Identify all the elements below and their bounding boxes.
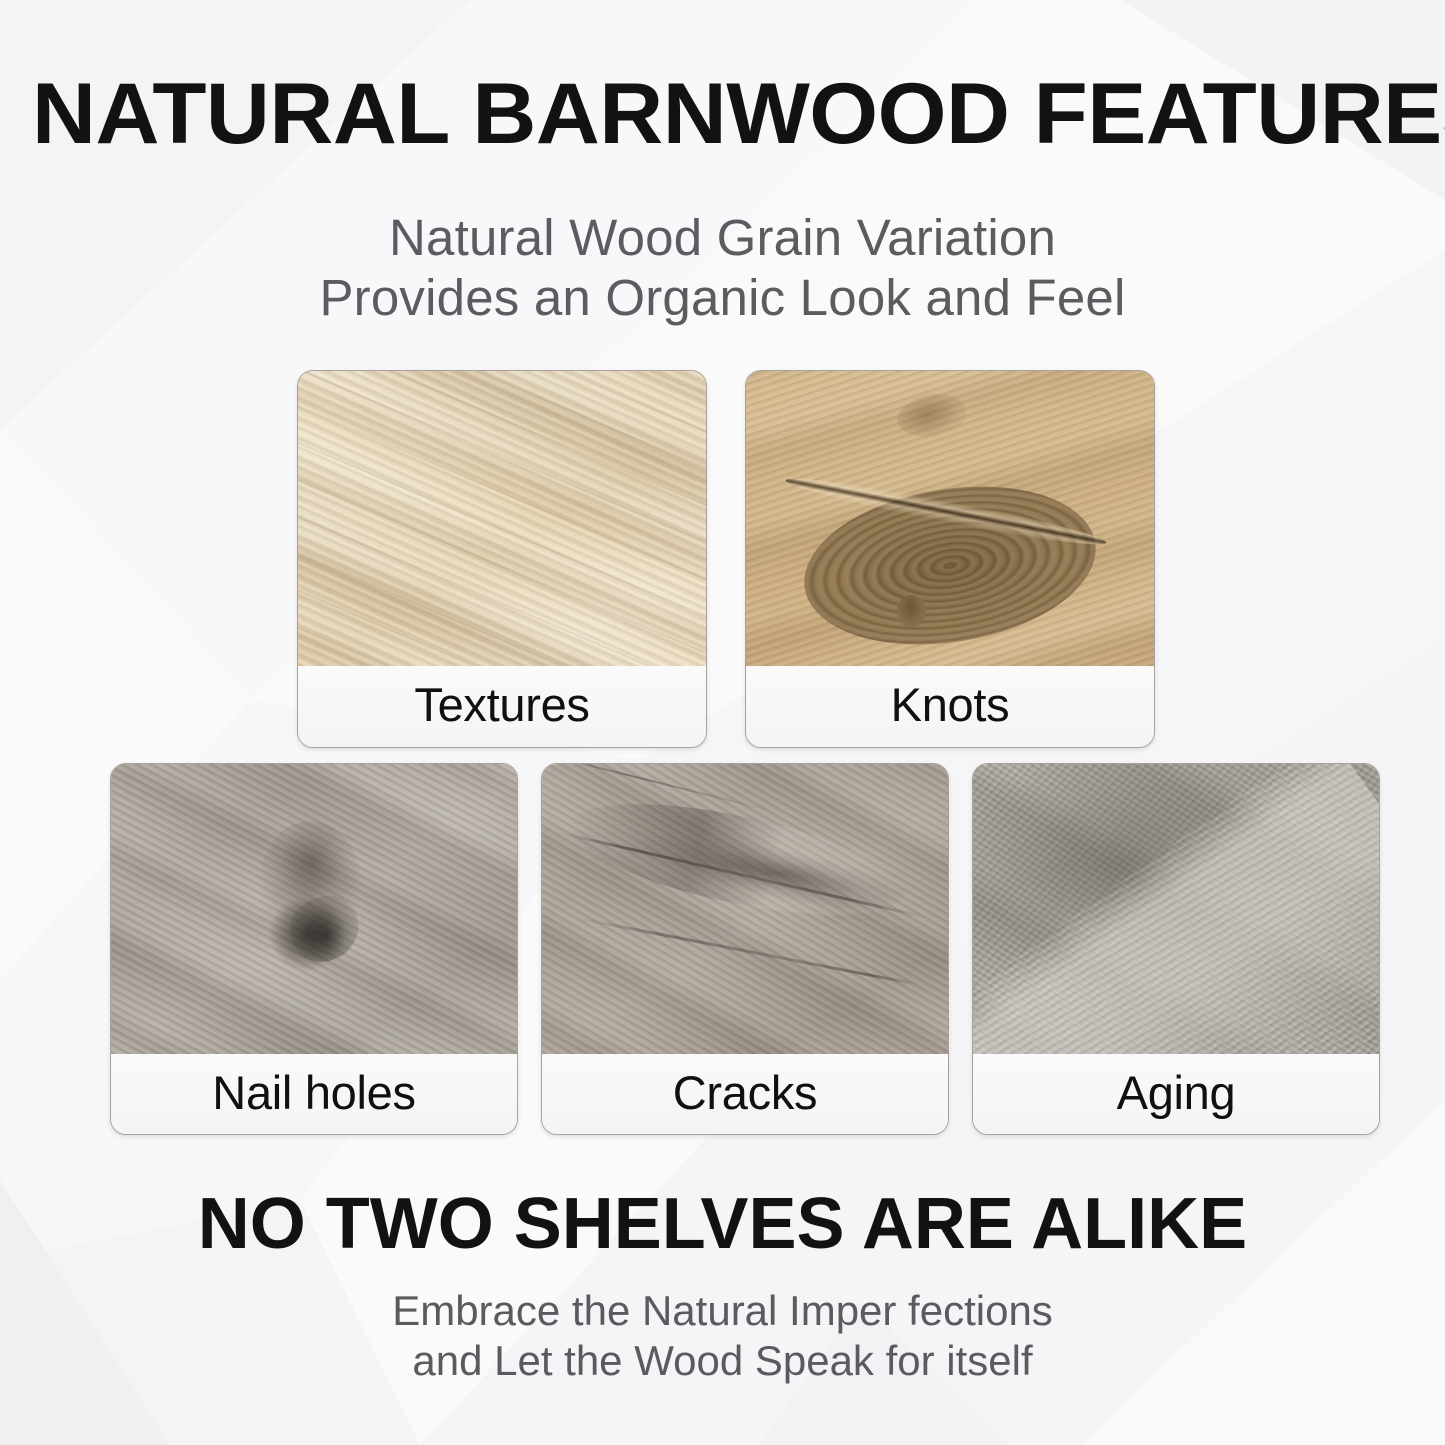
knots-thumbnail bbox=[746, 371, 1154, 666]
wood-texture-image-knots bbox=[746, 371, 1154, 666]
subtitle-line-1: Natural Wood Grain Variation bbox=[389, 209, 1056, 266]
feature-card-label: Aging bbox=[973, 1054, 1379, 1134]
feature-card-row-top: Textures Knots bbox=[297, 370, 1155, 748]
feature-card-knots[interactable]: Knots bbox=[745, 370, 1155, 748]
feature-card-label: Cracks bbox=[542, 1054, 948, 1134]
cracks-thumbnail bbox=[542, 764, 948, 1054]
subtitle-line-2: Provides an Organic Look and Feel bbox=[0, 268, 1445, 328]
footer-note-line-2: and Let the Wood Speak for itself bbox=[0, 1336, 1445, 1386]
wood-texture-image-aging bbox=[973, 764, 1379, 1054]
nail-holes-thumbnail bbox=[111, 764, 517, 1054]
feature-card-aging[interactable]: Aging bbox=[972, 763, 1380, 1135]
wood-texture-image-textures bbox=[298, 371, 706, 666]
feature-card-label: Textures bbox=[298, 666, 706, 747]
subtitle: Natural Wood Grain Variation Provides an… bbox=[0, 208, 1445, 328]
footer-note: Embrace the Natural Imper fections and L… bbox=[0, 1286, 1445, 1386]
feature-card-nail-holes[interactable]: Nail holes bbox=[110, 763, 518, 1135]
crack-main-detail bbox=[561, 782, 913, 938]
textures-thumbnail bbox=[298, 371, 706, 666]
knot-flake-detail bbox=[893, 386, 971, 445]
footer-note-line-1: Embrace the Natural Imper fections bbox=[392, 1287, 1053, 1334]
feature-card-textures[interactable]: Textures bbox=[297, 370, 707, 748]
feature-card-row-bottom: Nail holes Cracks Aging bbox=[110, 763, 1380, 1135]
page-title: NATURAL BARNWOOD FEATURES bbox=[32, 72, 1445, 156]
feature-card-label: Knots bbox=[746, 666, 1154, 747]
wood-texture-image-cracks bbox=[542, 764, 948, 1054]
wood-texture-image-nail-holes bbox=[111, 764, 517, 1054]
crack-line-lower-detail bbox=[577, 916, 920, 985]
feature-card-label: Nail holes bbox=[111, 1054, 517, 1134]
feature-card-cracks[interactable]: Cracks bbox=[541, 763, 949, 1135]
footer-headline: NO TWO SHELVES ARE ALIKE bbox=[0, 1188, 1445, 1260]
infographic-poster: NATURAL BARNWOOD FEATURES Natural Wood G… bbox=[0, 0, 1445, 1445]
aging-thumbnail bbox=[973, 764, 1379, 1054]
